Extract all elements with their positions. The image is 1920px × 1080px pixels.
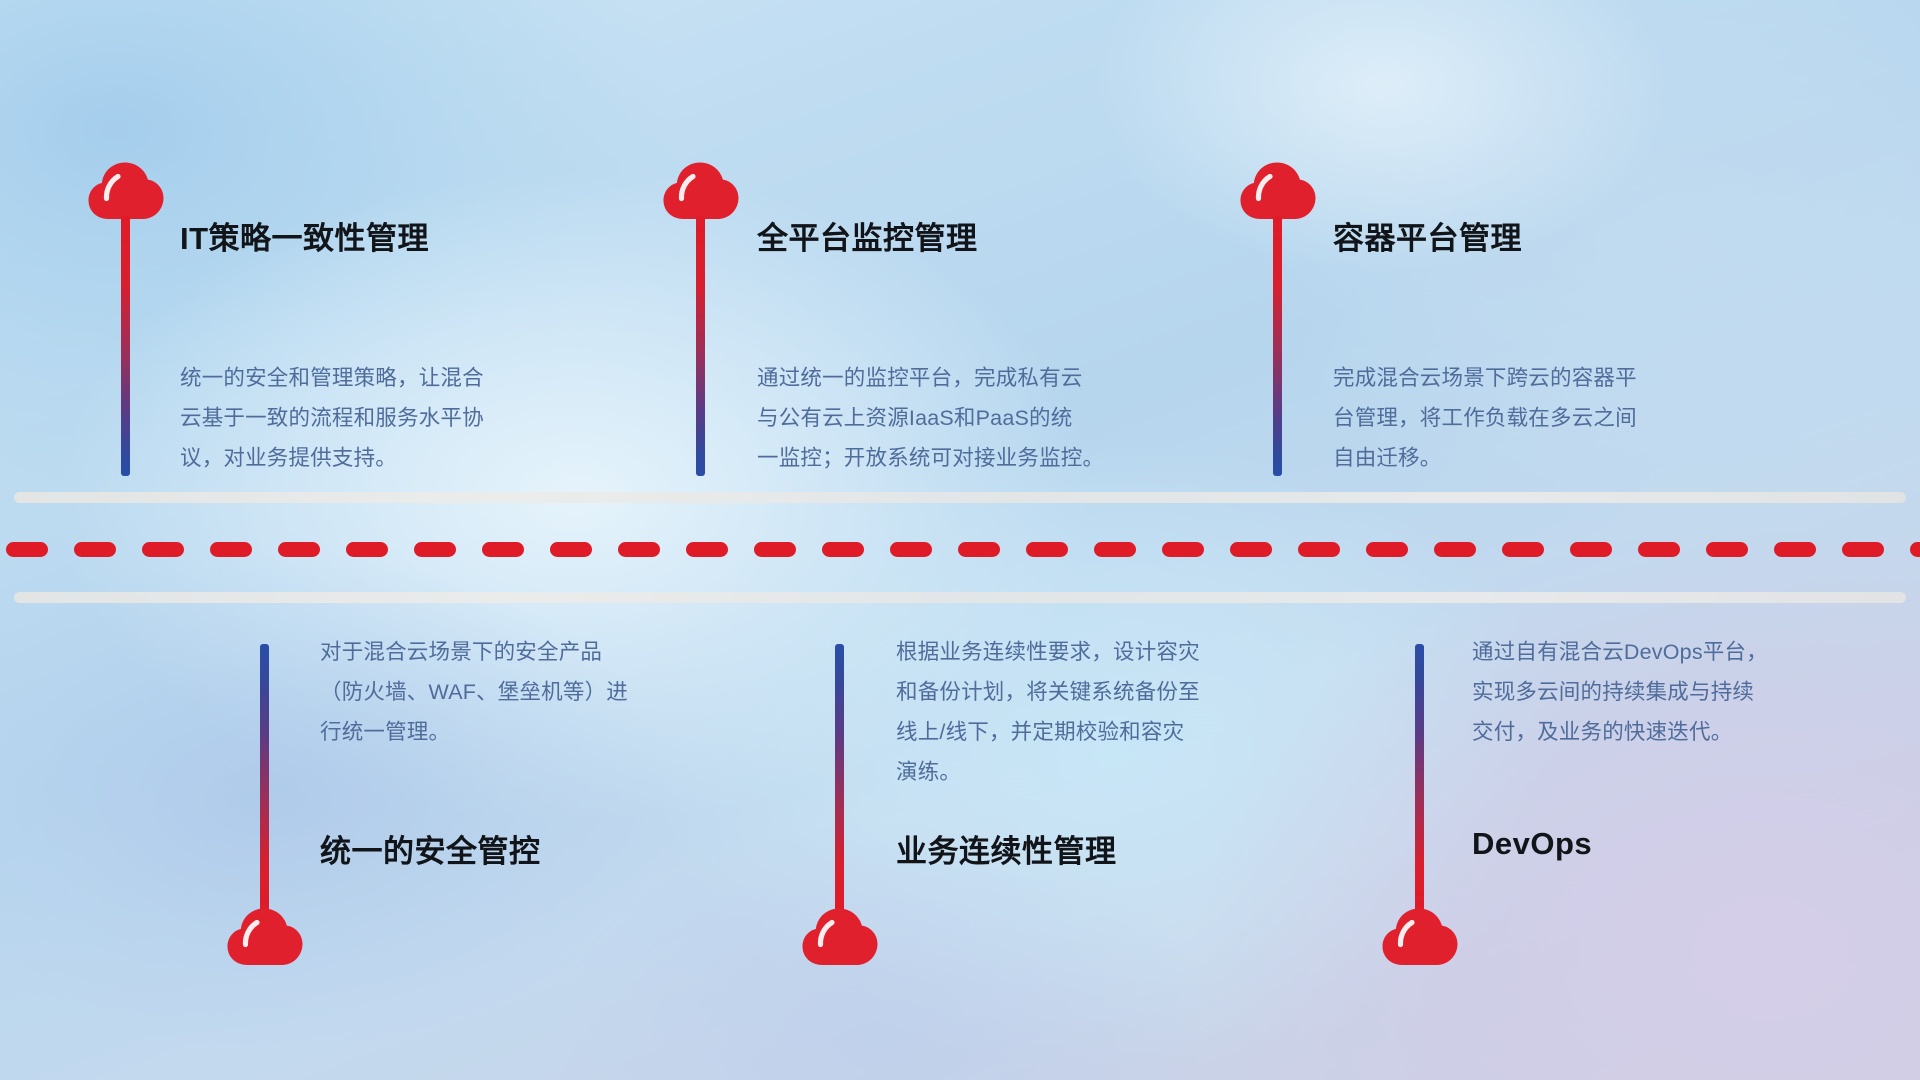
card-body-unified-security-control: 对于混合云场景下的安全产品 （防火墙、WAF、堡垒机等）进 行统一管理。 [320, 632, 760, 752]
divider-dash [1434, 542, 1476, 557]
divider-dash [1638, 542, 1680, 557]
cloud-icon [1380, 906, 1460, 968]
divider-dash [958, 542, 1000, 557]
card-body-devops: 通过自有混合云DevOps平台， 实现多云间的持续集成与持续 交付，及业务的快速… [1472, 632, 1912, 752]
body-line: 与公有云上资源IaaS和PaaS的统 [757, 398, 1197, 438]
card-body-it-policy-consistency: 统一的安全和管理策略，让混合 云基于一致的流程和服务水平协 议，对业务提供支持。 [180, 358, 620, 478]
cloud-icon [1238, 160, 1318, 222]
divider-dash [618, 542, 660, 557]
body-line: 行统一管理。 [320, 712, 760, 752]
body-line: 自由迁移。 [1333, 438, 1773, 478]
body-line: 云基于一致的流程和服务水平协 [180, 398, 620, 438]
card-title-unified-security-control: 统一的安全管控 [320, 826, 541, 871]
divider-dash [1230, 542, 1272, 557]
pin-stem [696, 216, 705, 476]
body-line: 线上/线下，并定期校验和容灾 [896, 712, 1336, 752]
body-line: 实现多云间的持续集成与持续 [1472, 672, 1912, 712]
divider-dash [1570, 542, 1612, 557]
divider-dash [890, 542, 932, 557]
card-title-devops: DevOps [1472, 826, 1592, 862]
divider-dashed-line [0, 541, 1920, 557]
card-body-container-platform: 完成混合云场景下跨云的容器平 台管理，将工作负载在多云之间 自由迁移。 [1333, 358, 1773, 478]
body-line: 和备份计划，将关键系统备份至 [896, 672, 1336, 712]
body-line: 交付，及业务的快速迭代。 [1472, 712, 1912, 752]
cloud-icon [661, 160, 741, 222]
body-line: 通过自有混合云DevOps平台， [1472, 632, 1912, 672]
card-title-business-continuity: 业务连续性管理 [896, 826, 1117, 871]
divider-dash [278, 542, 320, 557]
divider-dash [1298, 542, 1340, 557]
body-line: （防火墙、WAF、堡垒机等）进 [320, 672, 760, 712]
infographic-canvas: IT策略一致性管理 统一的安全和管理策略，让混合 云基于一致的流程和服务水平协 … [0, 0, 1920, 1080]
card-title-container-platform: 容器平台管理 [1333, 213, 1522, 258]
divider-dash [1842, 542, 1884, 557]
card-title-it-policy-consistency: IT策略一致性管理 [180, 213, 429, 258]
divider-dash [1094, 542, 1136, 557]
body-line: 台管理，将工作负载在多云之间 [1333, 398, 1773, 438]
body-line: 议，对业务提供支持。 [180, 438, 620, 478]
body-line: 统一的安全和管理策略，让混合 [180, 358, 620, 398]
pin-stem [1415, 644, 1424, 912]
divider-dash [822, 542, 864, 557]
body-line: 演练。 [896, 752, 1336, 792]
body-line: 一监控；开放系统可对接业务监控。 [757, 438, 1197, 478]
divider-dash [1502, 542, 1544, 557]
divider-dash [1774, 542, 1816, 557]
divider-dash [210, 542, 252, 557]
divider-line-lower [14, 592, 1906, 603]
pin-stem [835, 644, 844, 912]
divider-dash [686, 542, 728, 557]
card-title-full-platform-monitoring: 全平台监控管理 [757, 213, 978, 258]
pin-stem [1273, 216, 1282, 476]
divider-dash [6, 542, 48, 557]
cloud-icon [225, 906, 305, 968]
body-line: 通过统一的监控平台，完成私有云 [757, 358, 1197, 398]
divider-dash [1910, 542, 1920, 557]
body-line: 完成混合云场景下跨云的容器平 [1333, 358, 1773, 398]
divider-dash [1026, 542, 1068, 557]
divider-dash [1706, 542, 1748, 557]
pin-stem [121, 216, 130, 476]
cloud-icon [86, 160, 166, 222]
body-line: 对于混合云场景下的安全产品 [320, 632, 760, 672]
divider-dash [754, 542, 796, 557]
body-line: 根据业务连续性要求，设计容灾 [896, 632, 1336, 672]
divider-dash [482, 542, 524, 557]
card-body-business-continuity: 根据业务连续性要求，设计容灾 和备份计划，将关键系统备份至 线上/线下，并定期校… [896, 632, 1336, 792]
card-body-full-platform-monitoring: 通过统一的监控平台，完成私有云 与公有云上资源IaaS和PaaS的统 一监控；开… [757, 358, 1197, 478]
divider-dash [142, 542, 184, 557]
divider-dash [1162, 542, 1204, 557]
divider-dash [550, 542, 592, 557]
divider-line-upper [14, 492, 1906, 503]
divider-dash [1366, 542, 1408, 557]
divider-dash [74, 542, 116, 557]
divider-dash [414, 542, 456, 557]
cloud-icon [800, 906, 880, 968]
divider-dash [346, 542, 388, 557]
pin-stem [260, 644, 269, 912]
